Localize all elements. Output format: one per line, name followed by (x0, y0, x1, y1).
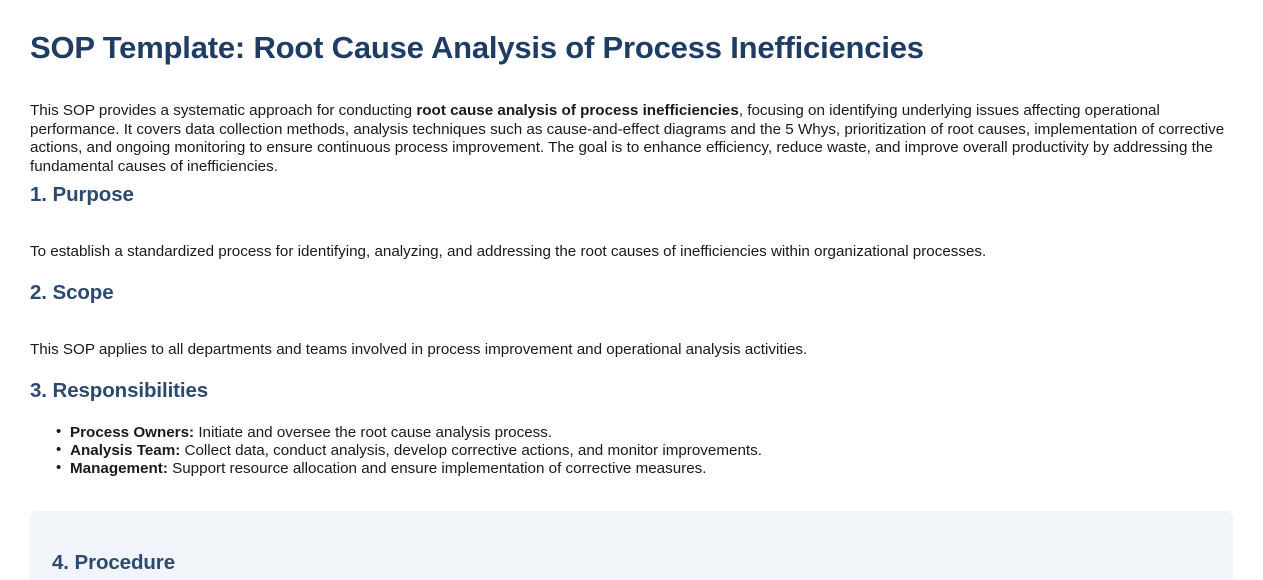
list-item: Management: Support resource allocation … (70, 460, 1250, 478)
section-body-scope: This SOP applies to all departments and … (30, 341, 1233, 360)
intro-paragraph: This SOP provides a systematic approach … (30, 102, 1233, 176)
list-item-role: Process Owners: (70, 424, 194, 441)
list-item-role: Management: (70, 460, 168, 477)
intro-text-part1: This SOP provides a systematic approach … (30, 102, 416, 119)
section-heading-responsibilities: 3. Responsibilities (30, 378, 208, 403)
list-item-role: Analysis Team: (70, 442, 180, 459)
list-item: Analysis Team: Collect data, conduct ana… (70, 442, 1250, 460)
list-item-text: Collect data, conduct analysis, develop … (180, 442, 762, 459)
section-heading-procedure: 4. Procedure (52, 550, 175, 575)
page-title: SOP Template: Root Cause Analysis of Pro… (30, 29, 924, 67)
section-heading-purpose: 1. Purpose (30, 182, 134, 207)
procedure-panel (30, 511, 1233, 580)
section-body-purpose: To establish a standardized process for … (30, 243, 1233, 262)
section-heading-scope: 2. Scope (30, 280, 114, 305)
list-item-text: Support resource allocation and ensure i… (168, 460, 707, 477)
responsibilities-list: Process Owners: Initiate and oversee the… (30, 424, 1250, 478)
list-item: Process Owners: Initiate and oversee the… (70, 424, 1250, 442)
intro-emphasis: root cause analysis of process inefficie… (416, 102, 738, 119)
document-page: SOP Template: Root Cause Analysis of Pro… (0, 0, 1263, 580)
list-item-text: Initiate and oversee the root cause anal… (194, 424, 552, 441)
